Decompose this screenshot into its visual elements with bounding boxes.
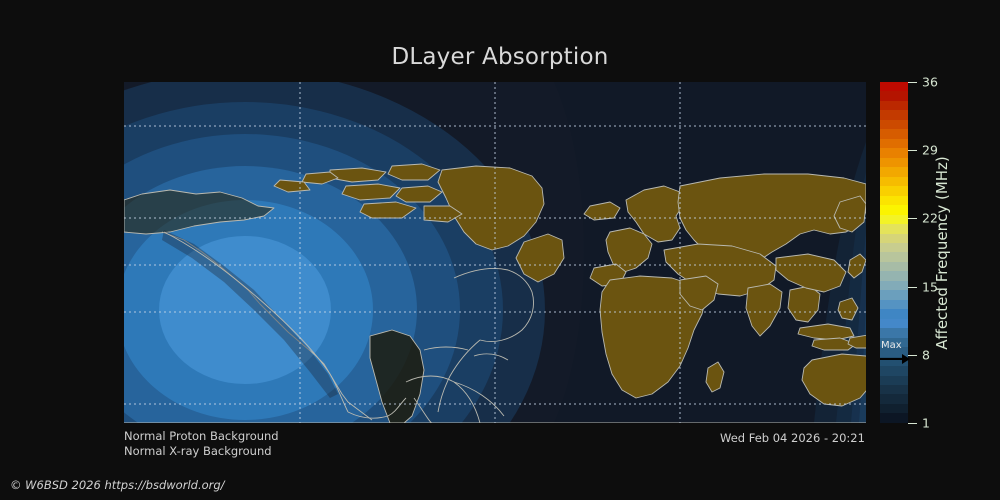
- colorbar-segment: [880, 290, 908, 299]
- colorbar-segment: [880, 300, 908, 309]
- max-arrow-icon: [880, 353, 910, 365]
- colorbar-tick-label: 8: [922, 347, 930, 362]
- colorbar-segment: [880, 404, 908, 413]
- colorbar-segment: [880, 328, 908, 337]
- colorbar-segment: [880, 376, 908, 385]
- colorbar-segment: [880, 271, 908, 280]
- colorbar-segment: [880, 413, 908, 422]
- credit-line: © W6BSD 2026 https://bsdworld.org/: [10, 478, 225, 492]
- colorbar-segment: [880, 394, 908, 403]
- world-map[interactable]: [124, 82, 866, 423]
- proton-status: Normal Proton Background: [124, 429, 279, 444]
- colorbar-segment: [880, 196, 908, 205]
- timestamp: Wed Feb 04 2026 - 20:21: [720, 431, 865, 445]
- colorbar-segment: [880, 120, 908, 129]
- colorbar-segment: [880, 243, 908, 252]
- colorbar-tick: [908, 82, 917, 83]
- colorbar-segment: [880, 262, 908, 271]
- colorbar-segment: [880, 101, 908, 110]
- colorbar-segment: [880, 234, 908, 243]
- colorbar-tick-label: 1: [922, 416, 930, 431]
- colorbar-segment: [880, 281, 908, 290]
- colorbar-tick: [908, 423, 917, 424]
- colorbar-segment: [880, 319, 908, 328]
- xray-status: Normal X-ray Background: [124, 444, 279, 459]
- colorbar-segment: [880, 385, 908, 394]
- colorbar-segment: [880, 366, 908, 375]
- colorbar-segment: [880, 252, 908, 261]
- colorbar-axis-label-text: Affected Frequency (MHz): [933, 156, 951, 350]
- dlayer-absorption-plot: DLayer Absorption: [0, 0, 1000, 500]
- colorbar-segment: [880, 148, 908, 157]
- status-annotations: Normal Proton Background Normal X-ray Ba…: [124, 429, 279, 459]
- colorbar-segment: [880, 129, 908, 138]
- colorbar-segment: [880, 177, 908, 186]
- colorbar-segment: [880, 110, 908, 119]
- colorbar-tick: [908, 287, 917, 288]
- colorbar-segment: [880, 186, 908, 195]
- colorbar-segment: [880, 215, 908, 224]
- colorbar-segment: [880, 309, 908, 318]
- colorbar[interactable]: [880, 82, 908, 423]
- colorbar-segment: [880, 158, 908, 167]
- colorbar-axis-label: Affected Frequency (MHz): [930, 82, 954, 423]
- colorbar-tick: [908, 218, 917, 219]
- page-title: DLayer Absorption: [0, 44, 1000, 70]
- colorbar-segment: [880, 167, 908, 176]
- max-marker-label: Max: [881, 340, 902, 351]
- colorbar-segment: [880, 205, 908, 214]
- colorbar-segment: [880, 224, 908, 233]
- map-canvas: [124, 82, 866, 423]
- colorbar-max-marker: Max: [880, 340, 910, 366]
- colorbar-segment: [880, 82, 908, 91]
- colorbar-tick: [908, 150, 917, 151]
- colorbar-segment: [880, 91, 908, 100]
- colorbar-segment: [880, 139, 908, 148]
